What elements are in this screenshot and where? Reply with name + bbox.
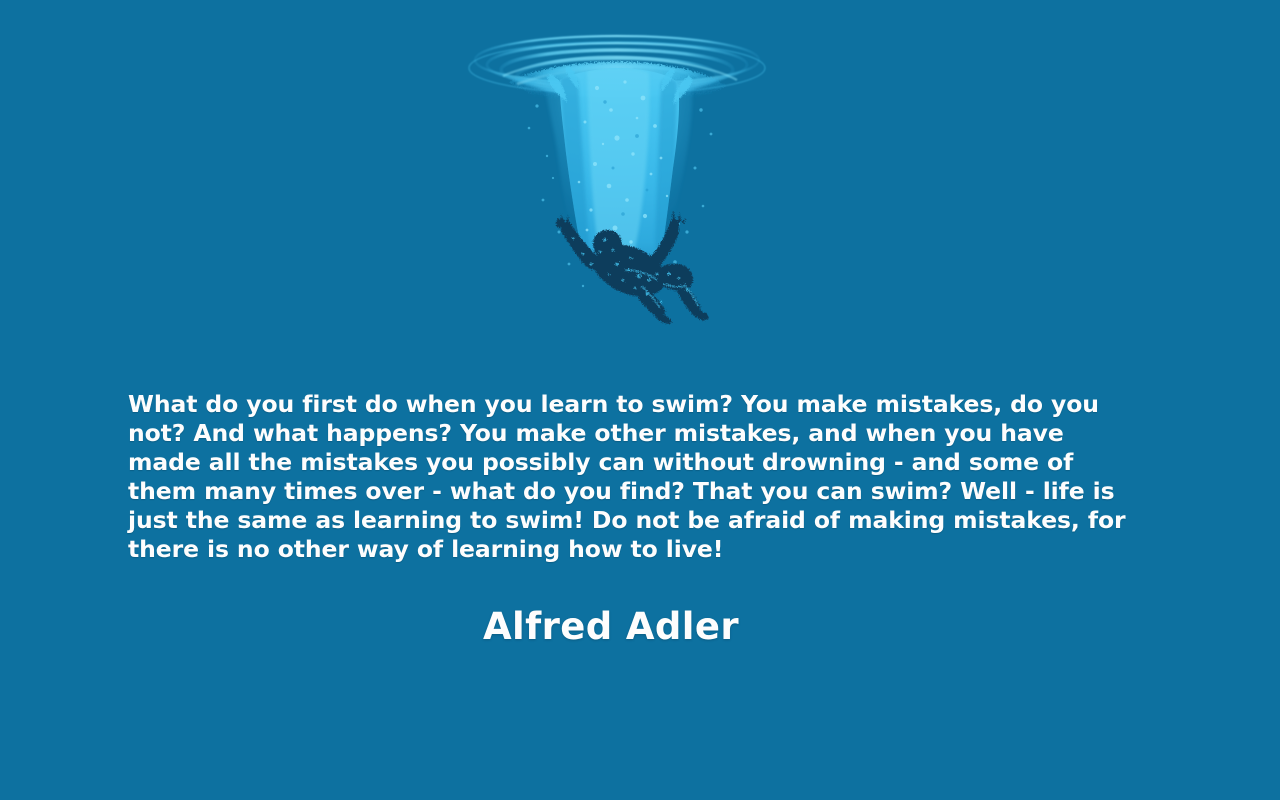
wallpaper-canvas: What do you first do when you learn to s… [0,0,1280,800]
author-block: Alfred Adler [0,605,1222,649]
quote-text: What do you first do when you learn to s… [128,390,1144,564]
swimmer-sinking-underwater-illustration [465,18,785,328]
quote-block: What do you first do when you learn to s… [128,390,1144,564]
author-name: Alfred Adler [483,605,739,649]
